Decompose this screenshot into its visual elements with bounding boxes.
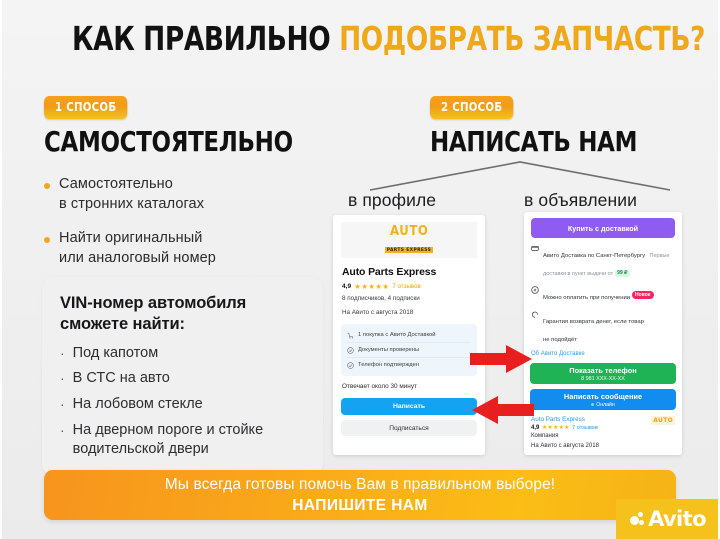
method-two-badge: 2 СПОСОБ xyxy=(430,96,513,119)
seller-type: Компания xyxy=(531,432,675,441)
list-item: Гарантия возврата денег, если товар не п… xyxy=(531,310,675,346)
arrow-left-icon xyxy=(472,396,534,424)
profile-badge-list: 1 покупка с Авито Доставкой Документы пр… xyxy=(341,324,477,376)
return-arrow-icon xyxy=(531,310,539,346)
method-two-heading: НАПИСАТЬ НАМ xyxy=(430,128,651,156)
follow-button[interactable]: Подписаться xyxy=(341,420,477,436)
page-edge-left xyxy=(0,0,2,539)
list-item: 1 покупка с Авито Доставкой xyxy=(347,328,471,342)
profile-reply-time: Отвечает около 30 минут xyxy=(342,383,476,390)
phone-check-icon xyxy=(347,362,354,369)
brand-logo-sub: PARTS EXPRESS xyxy=(385,247,433,253)
profile-followers: 8 подписчиков, 4 подписки xyxy=(342,294,476,303)
online-dot-icon xyxy=(591,403,594,406)
cta-banner: Мы всегда готовы помочь Вам в правильном… xyxy=(44,470,676,520)
list-item: Можно оплатить при полученииНовое xyxy=(531,286,675,304)
reviews-link[interactable]: 7 отзывов xyxy=(572,425,598,431)
send-message-button[interactable]: Написать сообщение Онлайн xyxy=(530,389,676,410)
cart-icon xyxy=(347,332,354,339)
new-badge: Новое xyxy=(632,291,654,299)
sub-label-profile: в профиле xyxy=(348,190,436,211)
seller-since: На Авито с августа 2018 xyxy=(531,442,675,451)
profile-since: На Авито с августа 2018 xyxy=(342,308,476,317)
list-item: Телефон подтвержден xyxy=(347,357,471,372)
cta-banner-line1: Мы всегда готовы помочь Вам в правильном… xyxy=(165,476,555,494)
feature-text: Гарантия возврата денег, если товар не п… xyxy=(543,319,644,343)
send-message-label: Написать сообщение xyxy=(564,392,642,401)
method-one-bullets: Самостоятельно в стронних каталогах Найт… xyxy=(44,174,324,268)
method-one-badge: 1 СПОСОБ xyxy=(44,96,127,119)
title-gold-part: ПОДОБРАТЬ ЗАПЧАСТЬ? xyxy=(339,19,705,58)
bullet-text: Самостоятельно в стронних каталогах xyxy=(59,174,204,214)
write-button[interactable]: Написать xyxy=(341,398,477,415)
vin-item-text: На дверном пороге и стойке водительской … xyxy=(73,421,263,459)
bullet-text: Найти оригинальный или аналоговый номер xyxy=(59,228,216,268)
seller-info: AUTO Auto Parts Express 4,9 ★★★★★ 7 отзы… xyxy=(531,416,675,455)
phone-number: 8 981 XXX-XX-XX xyxy=(581,376,625,382)
arrow-right-icon xyxy=(470,345,532,373)
avito-watermark: Avito xyxy=(616,499,720,539)
avito-dots-icon xyxy=(630,512,645,527)
badge-text: Телефон подтвержден xyxy=(358,362,419,369)
rating-value: 4,9 xyxy=(342,283,351,290)
seller-rating-row: 4,9 ★★★★★ 7 отзывов xyxy=(531,425,675,431)
list-item: · На дверном пороге и стойке водительско… xyxy=(60,421,305,459)
list-item: · На лобовом стекле xyxy=(60,395,305,414)
bullet-dash-icon: · xyxy=(60,421,65,459)
feature-text: Можно оплатить при получении xyxy=(543,295,630,301)
avito-wordmark: Avito xyxy=(648,509,706,530)
vin-item-text: Под капотом xyxy=(73,344,159,363)
title-dark-part: КАК ПРАВИЛЬНО xyxy=(72,19,330,58)
page-title: КАК ПРАВИЛЬНО ПОДОБРАТЬ ЗАПЧАСТЬ? xyxy=(72,22,648,55)
connector-lines xyxy=(340,160,700,194)
sub-label-listing: в объявлении xyxy=(524,190,637,211)
listing-card-mockup: Купить с доставкой Авито Доставка по Сан… xyxy=(524,212,682,455)
star-rating-icon: ★★★★★ xyxy=(354,283,389,290)
bullet-dot-icon xyxy=(44,183,50,189)
vin-item-text: В СТС на авто xyxy=(73,369,170,388)
bullet-dot-icon xyxy=(44,237,50,243)
buy-with-delivery-button[interactable]: Купить с доставкой xyxy=(531,218,675,238)
vin-info-card: VIN-номер автомобиля сможете найти: · По… xyxy=(42,277,323,476)
list-item: · В СТС на авто xyxy=(60,369,305,388)
profile-rating-row: 4,9 ★★★★★ 7 отзывов xyxy=(342,283,476,290)
online-status: Онлайн xyxy=(591,402,615,408)
profile-card-mockup: AUTO PARTS EXPRESS Auto Parts Express 4,… xyxy=(333,215,485,455)
method-one-column: 1 СПОСОБ САМОСТОЯТЕЛЬНО Самостоятельно в… xyxy=(44,96,324,282)
vin-item-text: На лобовом стекле xyxy=(73,395,203,414)
badge-text: 1 покупка с Авито Доставкой xyxy=(358,332,436,339)
cta-banner-line2: НАПИШИТЕ НАМ xyxy=(292,497,427,515)
about-delivery-link[interactable]: Об Авито Доставке xyxy=(531,351,675,357)
method-one-heading: САМОСТОЯТЕЛЬНО xyxy=(44,128,274,156)
vin-card-title: VIN-номер автомобиля сможете найти: xyxy=(60,293,305,335)
bullet-dash-icon: · xyxy=(60,344,65,363)
list-item: Самостоятельно в стронних каталогах xyxy=(44,174,324,214)
list-item: Авито Доставка по Санкт-Петербургу Первы… xyxy=(531,244,675,280)
brand-logo: AUTO PARTS EXPRESS xyxy=(341,222,477,258)
bullet-dash-icon: · xyxy=(60,369,65,388)
list-item: Документы проверены xyxy=(347,342,471,357)
badge-text: Документы проверены xyxy=(358,347,419,354)
list-item: · Под капотом xyxy=(60,344,305,363)
star-rating-icon: ★★★★★ xyxy=(542,425,570,431)
check-circle-icon xyxy=(347,347,354,354)
seller-logo: AUTO xyxy=(651,416,675,425)
profile-name: Auto Parts Express xyxy=(342,266,476,278)
wallet-icon xyxy=(531,286,539,304)
show-phone-label: Показать телефон xyxy=(569,366,636,375)
price-chip: 99 ₽ xyxy=(615,270,630,278)
list-item: Найти оригинальный или аналоговый номер xyxy=(44,228,324,268)
poster-canvas: КАК ПРАВИЛЬНО ПОДОБРАТЬ ЗАПЧАСТЬ? 1 СПОС… xyxy=(0,0,720,539)
method-two-column: 2 СПОСОБ НАПИСАТЬ НАМ xyxy=(430,96,700,156)
feature-text: Авито Доставка по Санкт-Петербургу xyxy=(543,253,645,259)
bullet-dash-icon: · xyxy=(60,395,65,414)
delivery-box-icon xyxy=(531,244,539,280)
reviews-link[interactable]: 7 отзывов xyxy=(392,283,421,290)
brand-logo-main: AUTO xyxy=(387,225,431,238)
show-phone-button[interactable]: Показать телефон 8 981 XXX-XX-XX xyxy=(530,363,676,384)
rating-value: 4,9 xyxy=(531,425,539,431)
